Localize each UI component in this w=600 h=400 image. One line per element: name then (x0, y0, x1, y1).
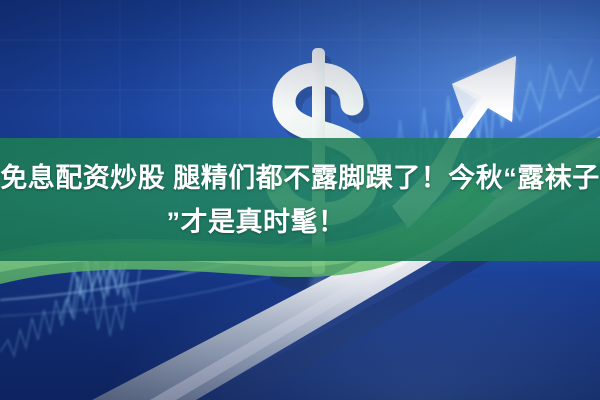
headline-line-1: 免息配资炒股 腿精们都不露脚踝了！今秋“露袜子 (0, 156, 600, 200)
headline-line-2: ”才是真时髦！ (167, 200, 346, 244)
headline-text-block: 免息配资炒股 腿精们都不露脚踝了！今秋“露袜子 ”才是真时髦！ (0, 138, 600, 261)
banner-image: 免息配资炒股 腿精们都不露脚踝了！今秋“露袜子 ”才是真时髦！ (0, 0, 600, 400)
